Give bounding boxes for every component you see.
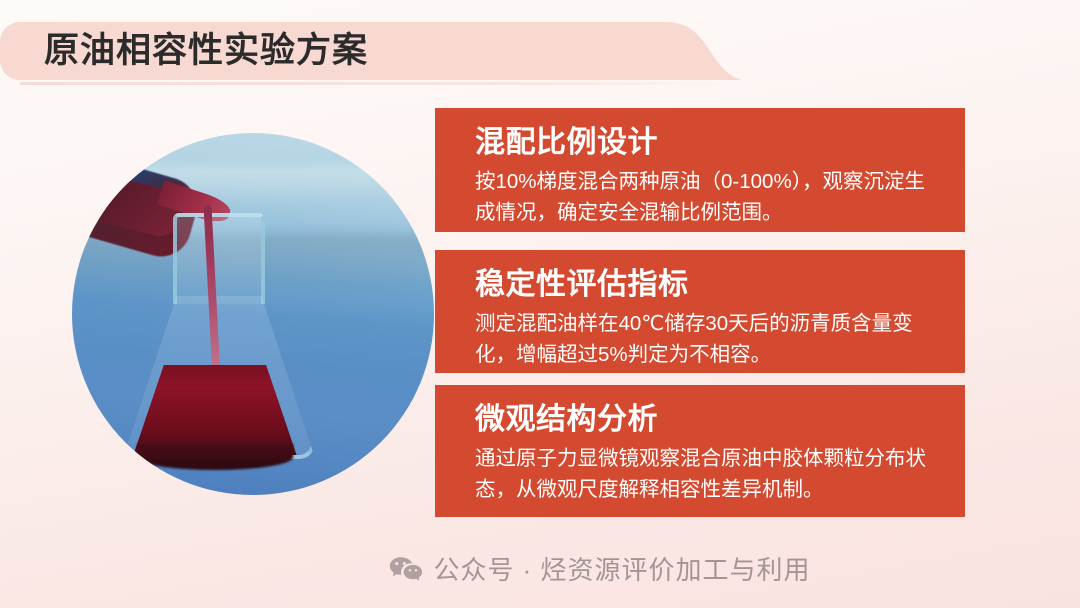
footer: 公众号 · 烃资源评价加工与利用 bbox=[0, 554, 1080, 586]
title-underline bbox=[20, 82, 732, 85]
page-title: 原油相容性实验方案 bbox=[44, 27, 368, 75]
footer-label: 公众号 · 烃资源评价加工与利用 bbox=[433, 554, 810, 586]
wechat-icon bbox=[389, 556, 423, 584]
card-title: 稳定性评估指标 bbox=[475, 264, 943, 306]
card-body: 按10%梯度混合两种原油（0-100%），观察沉淀生成情况，确定安全混输比例范围… bbox=[475, 166, 943, 228]
card-body: 通过原子力显微镜观察混合原油中胶体颗粒分布状态，从微观尺度解释相容性差异机制。 bbox=[475, 443, 943, 505]
card-title: 混配比例设计 bbox=[475, 122, 943, 164]
content-card[interactable]: 稳定性评估指标 测定混配油样在40℃储存30天后的沥青质含量变化，增幅超过5%判… bbox=[435, 250, 965, 373]
card-body: 测定混配油样在40℃储存30天后的沥青质含量变化，增幅超过5%判定为不相容。 bbox=[475, 308, 943, 370]
illustration-photo-circle bbox=[72, 133, 434, 495]
flask-base-shadow bbox=[137, 444, 293, 469]
content-card[interactable]: 微观结构分析 通过原子力显微镜观察混合原油中胶体颗粒分布状态，从微观尺度解释相容… bbox=[435, 385, 965, 517]
content-card[interactable]: 混配比例设计 按10%梯度混合两种原油（0-100%），观察沉淀生成情况，确定安… bbox=[435, 108, 965, 232]
slide-canvas: 原油相容性实验方案 混配比例设计 按10%梯度混合两种原油（0-100%），观察… bbox=[0, 0, 1080, 608]
flask-neck bbox=[173, 213, 264, 304]
card-title: 微观结构分析 bbox=[475, 399, 943, 441]
